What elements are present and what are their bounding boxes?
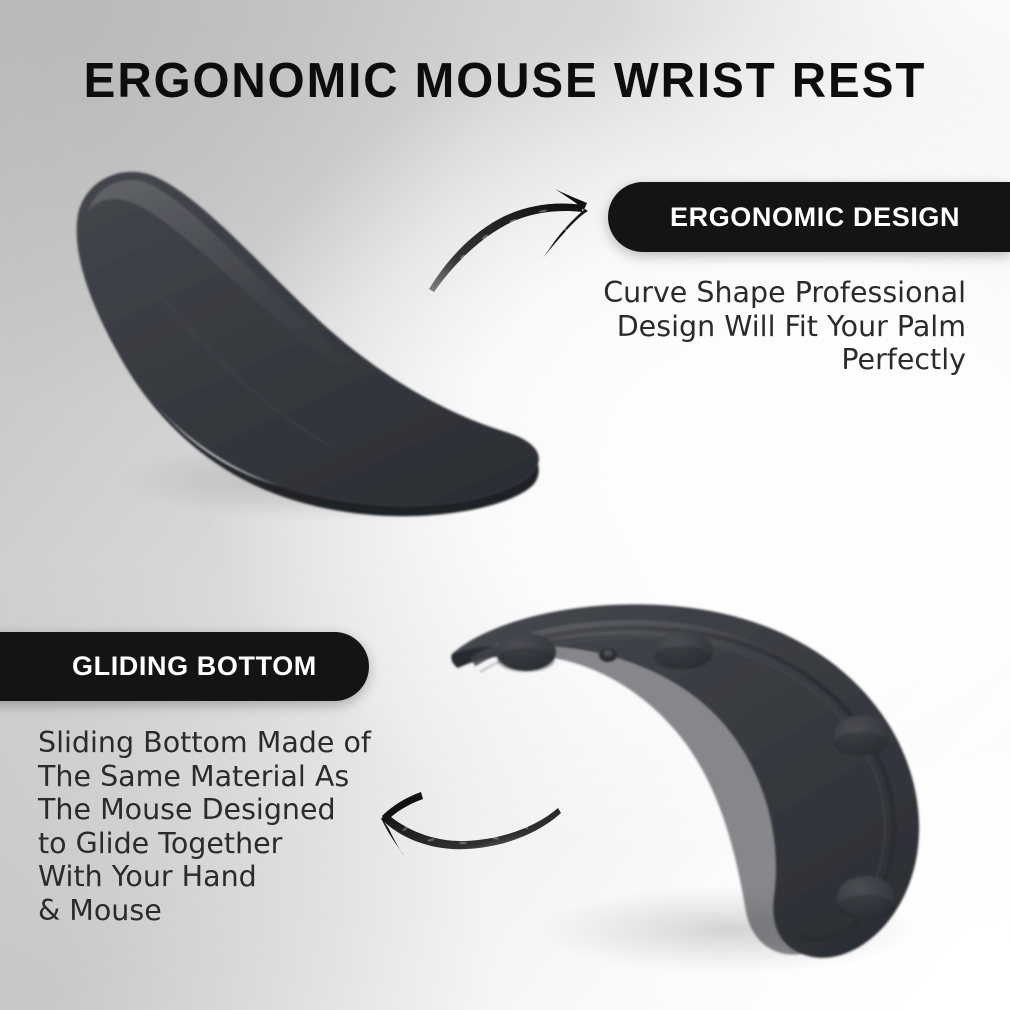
feature-ergonomic-design-description: Curve Shape Professional Design Will Fit… [536,276,966,377]
description-line: Design Will Fit Your Palm [536,310,966,344]
description-line: & Mouse [38,894,438,928]
description-line: Sliding Bottom Made of [38,726,438,760]
badge-gliding-bottom-label: GLIDING BOTTOM [72,651,317,682]
feature-gliding-bottom-description: Sliding Bottom Made of The Same Material… [38,726,438,927]
description-line: to Glide Together [38,827,438,861]
description-line: Perfectly [536,343,966,377]
badge-gliding-bottom[interactable]: GLIDING BOTTOM [0,632,369,701]
description-line: The Same Material As [38,760,438,794]
badge-ergonomic-design-label: ERGONOMIC DESIGN [670,202,960,233]
description-line: The Mouse Designed [38,793,438,827]
badge-ergonomic-design[interactable]: ERGONOMIC DESIGN [608,182,1010,252]
page-title: ERGONOMIC MOUSE WRIST REST [15,52,995,110]
product-infographic: ERGONOMIC MOUSE WRIST REST [0,0,1010,1010]
description-line: With Your Hand [38,860,438,894]
description-line: Curve Shape Professional [536,276,966,310]
